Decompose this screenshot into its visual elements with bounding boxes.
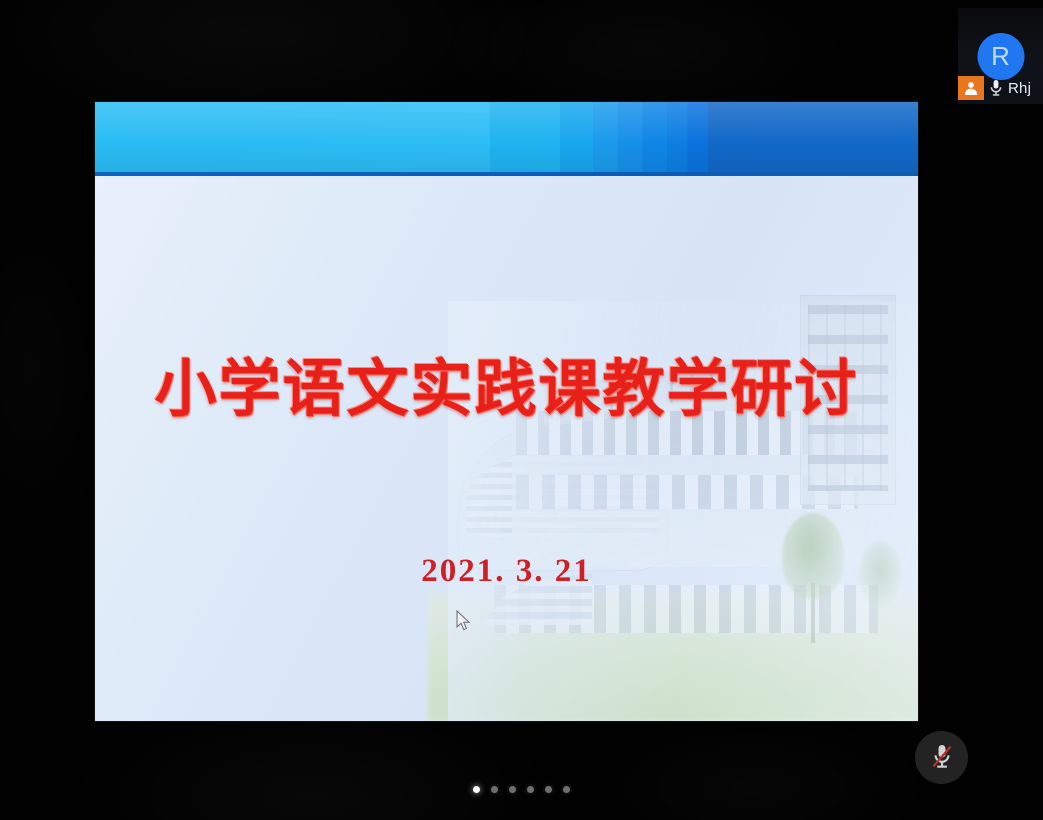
avatar: R xyxy=(977,33,1024,80)
pager-dot-4[interactable] xyxy=(527,786,534,793)
banner-sheen xyxy=(95,102,918,176)
self-view-tile[interactable]: R Rhj xyxy=(958,8,1043,104)
mute-toggle-button[interactable] xyxy=(915,731,968,784)
pager-dot-3[interactable] xyxy=(509,786,516,793)
slide-banner xyxy=(95,102,918,176)
screen-share-stage: 小学语文实践课教学研讨 2021. 3. 21 R xyxy=(0,0,1043,820)
pager-dot-5[interactable] xyxy=(545,786,552,793)
self-view-footer: Rhj xyxy=(958,76,1043,100)
person-icon xyxy=(958,76,984,100)
microphone-muted-icon xyxy=(929,741,955,774)
slide-pager[interactable] xyxy=(0,786,1043,793)
participant-name: Rhj xyxy=(1008,80,1031,97)
shared-slide[interactable]: 小学语文实践课教学研讨 2021. 3. 21 xyxy=(95,102,918,721)
pager-dot-2[interactable] xyxy=(491,786,498,793)
pager-dot-1[interactable] xyxy=(473,786,480,793)
slide-date: 2021. 3. 21 xyxy=(95,553,918,590)
slide-title: 小学语文实践课教学研讨 xyxy=(95,338,918,428)
microphone-icon xyxy=(988,78,1004,98)
pager-dot-6[interactable] xyxy=(563,786,570,793)
